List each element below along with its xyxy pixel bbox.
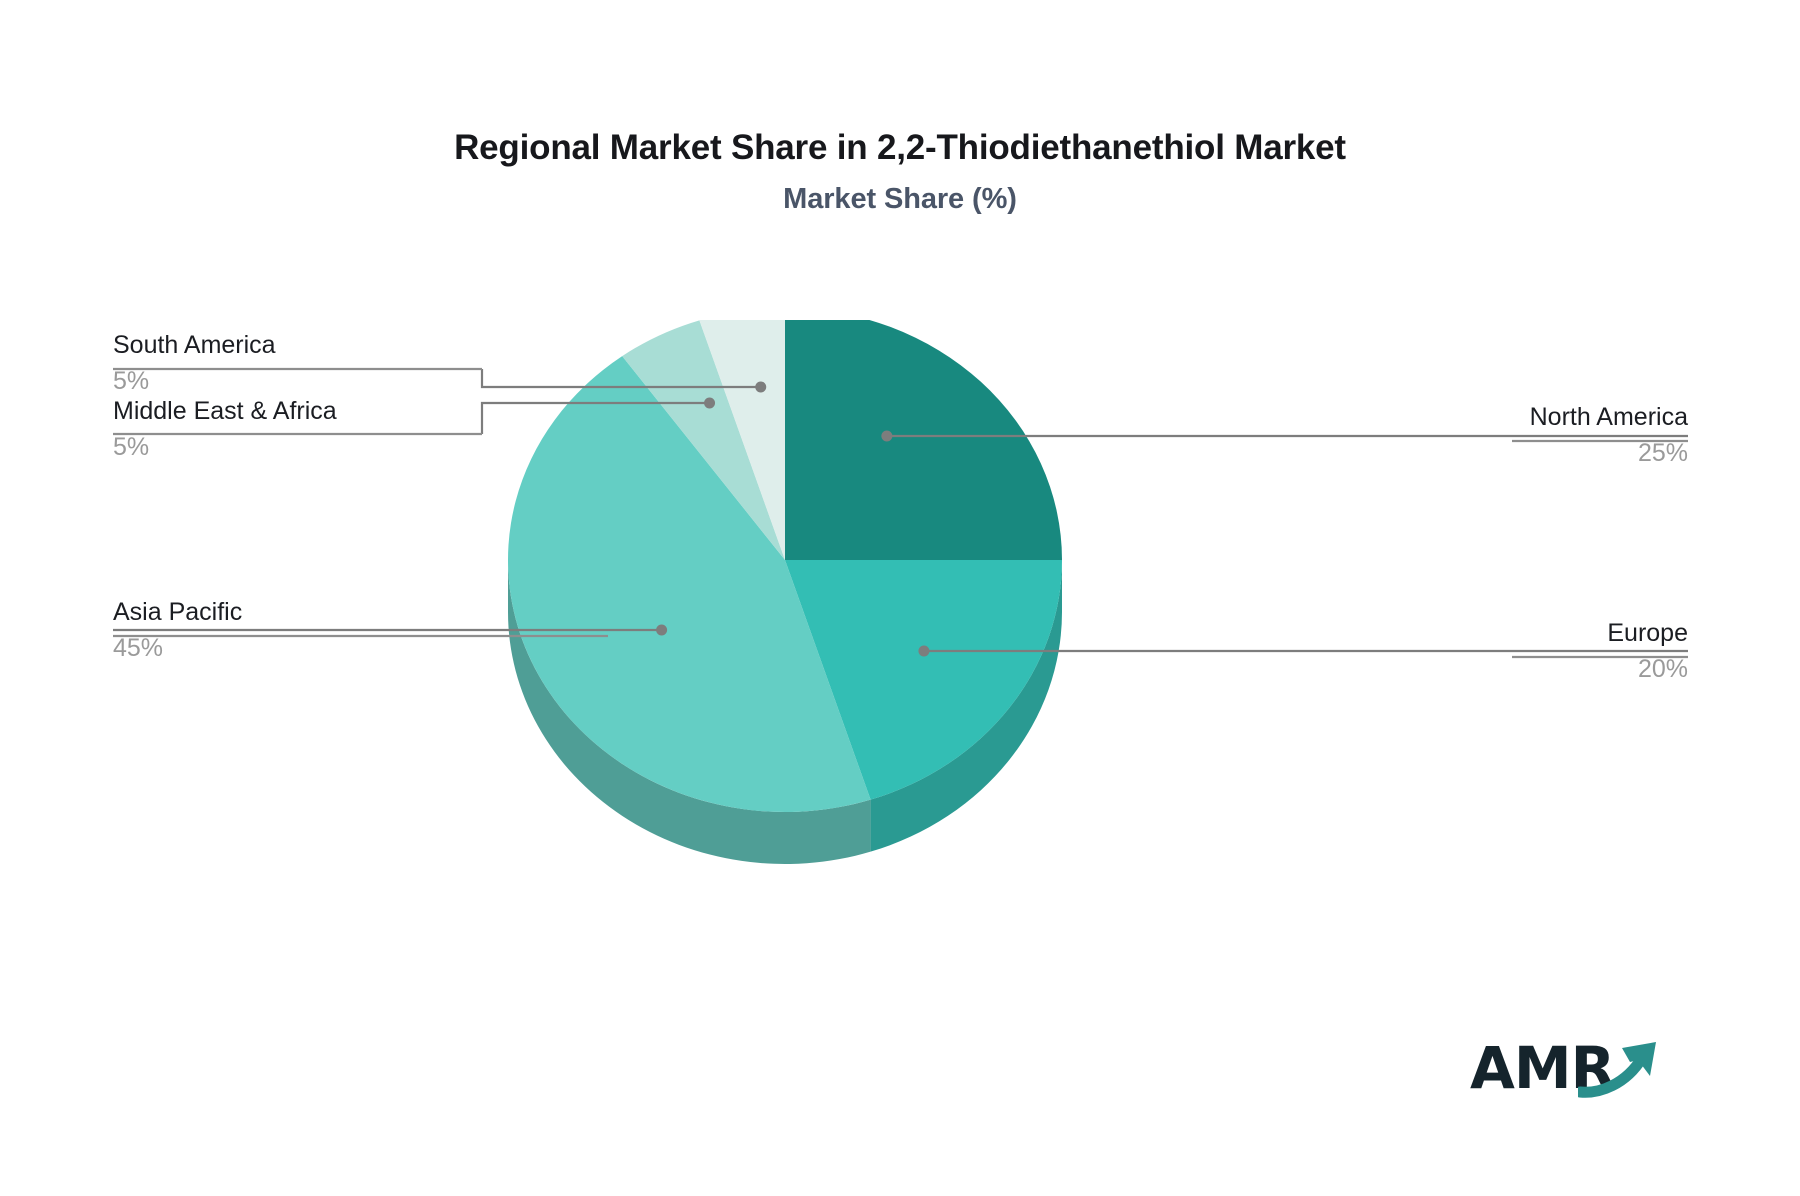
callout-value-middle-east-africa: 5% [113, 426, 337, 464]
callout-label-europe: Europe [1607, 618, 1688, 648]
callout-label-middle-east-africa: Middle East & Africa [113, 396, 337, 426]
callout-label-asia-pacific: Asia Pacific [113, 597, 242, 627]
chart-title: Regional Market Share in 2,2-Thiodiethan… [0, 128, 1800, 168]
chart-canvas: Regional Market Share in 2,2-Thiodiethan… [0, 0, 1800, 1196]
callout-value-asia-pacific: 45% [113, 627, 242, 665]
callout-europe: Europe 20% [1607, 618, 1688, 686]
pie-slices-group [508, 320, 1062, 812]
callout-label-south-america: South America [113, 330, 276, 360]
pie-chart [505, 320, 1085, 920]
chart-subtitle: Market Share (%) [0, 183, 1800, 216]
callout-value-south-america: 5% [113, 360, 276, 398]
pie-svg [505, 320, 1085, 920]
growth-arrow-icon [1578, 1036, 1670, 1098]
callout-south-america: South America 5% [113, 330, 276, 398]
amr-logo: AMR [1470, 1030, 1670, 1110]
callout-middle-east-africa: Middle East & Africa 5% [113, 396, 337, 464]
callout-label-north-america: North America [1530, 402, 1688, 432]
callout-value-north-america: 25% [1530, 432, 1688, 470]
callout-north-america: North America 25% [1530, 402, 1688, 470]
callout-value-europe: 20% [1607, 648, 1688, 686]
callout-asia-pacific: Asia Pacific 45% [113, 597, 242, 665]
pie-slice-north-america[interactable] [785, 320, 1062, 560]
